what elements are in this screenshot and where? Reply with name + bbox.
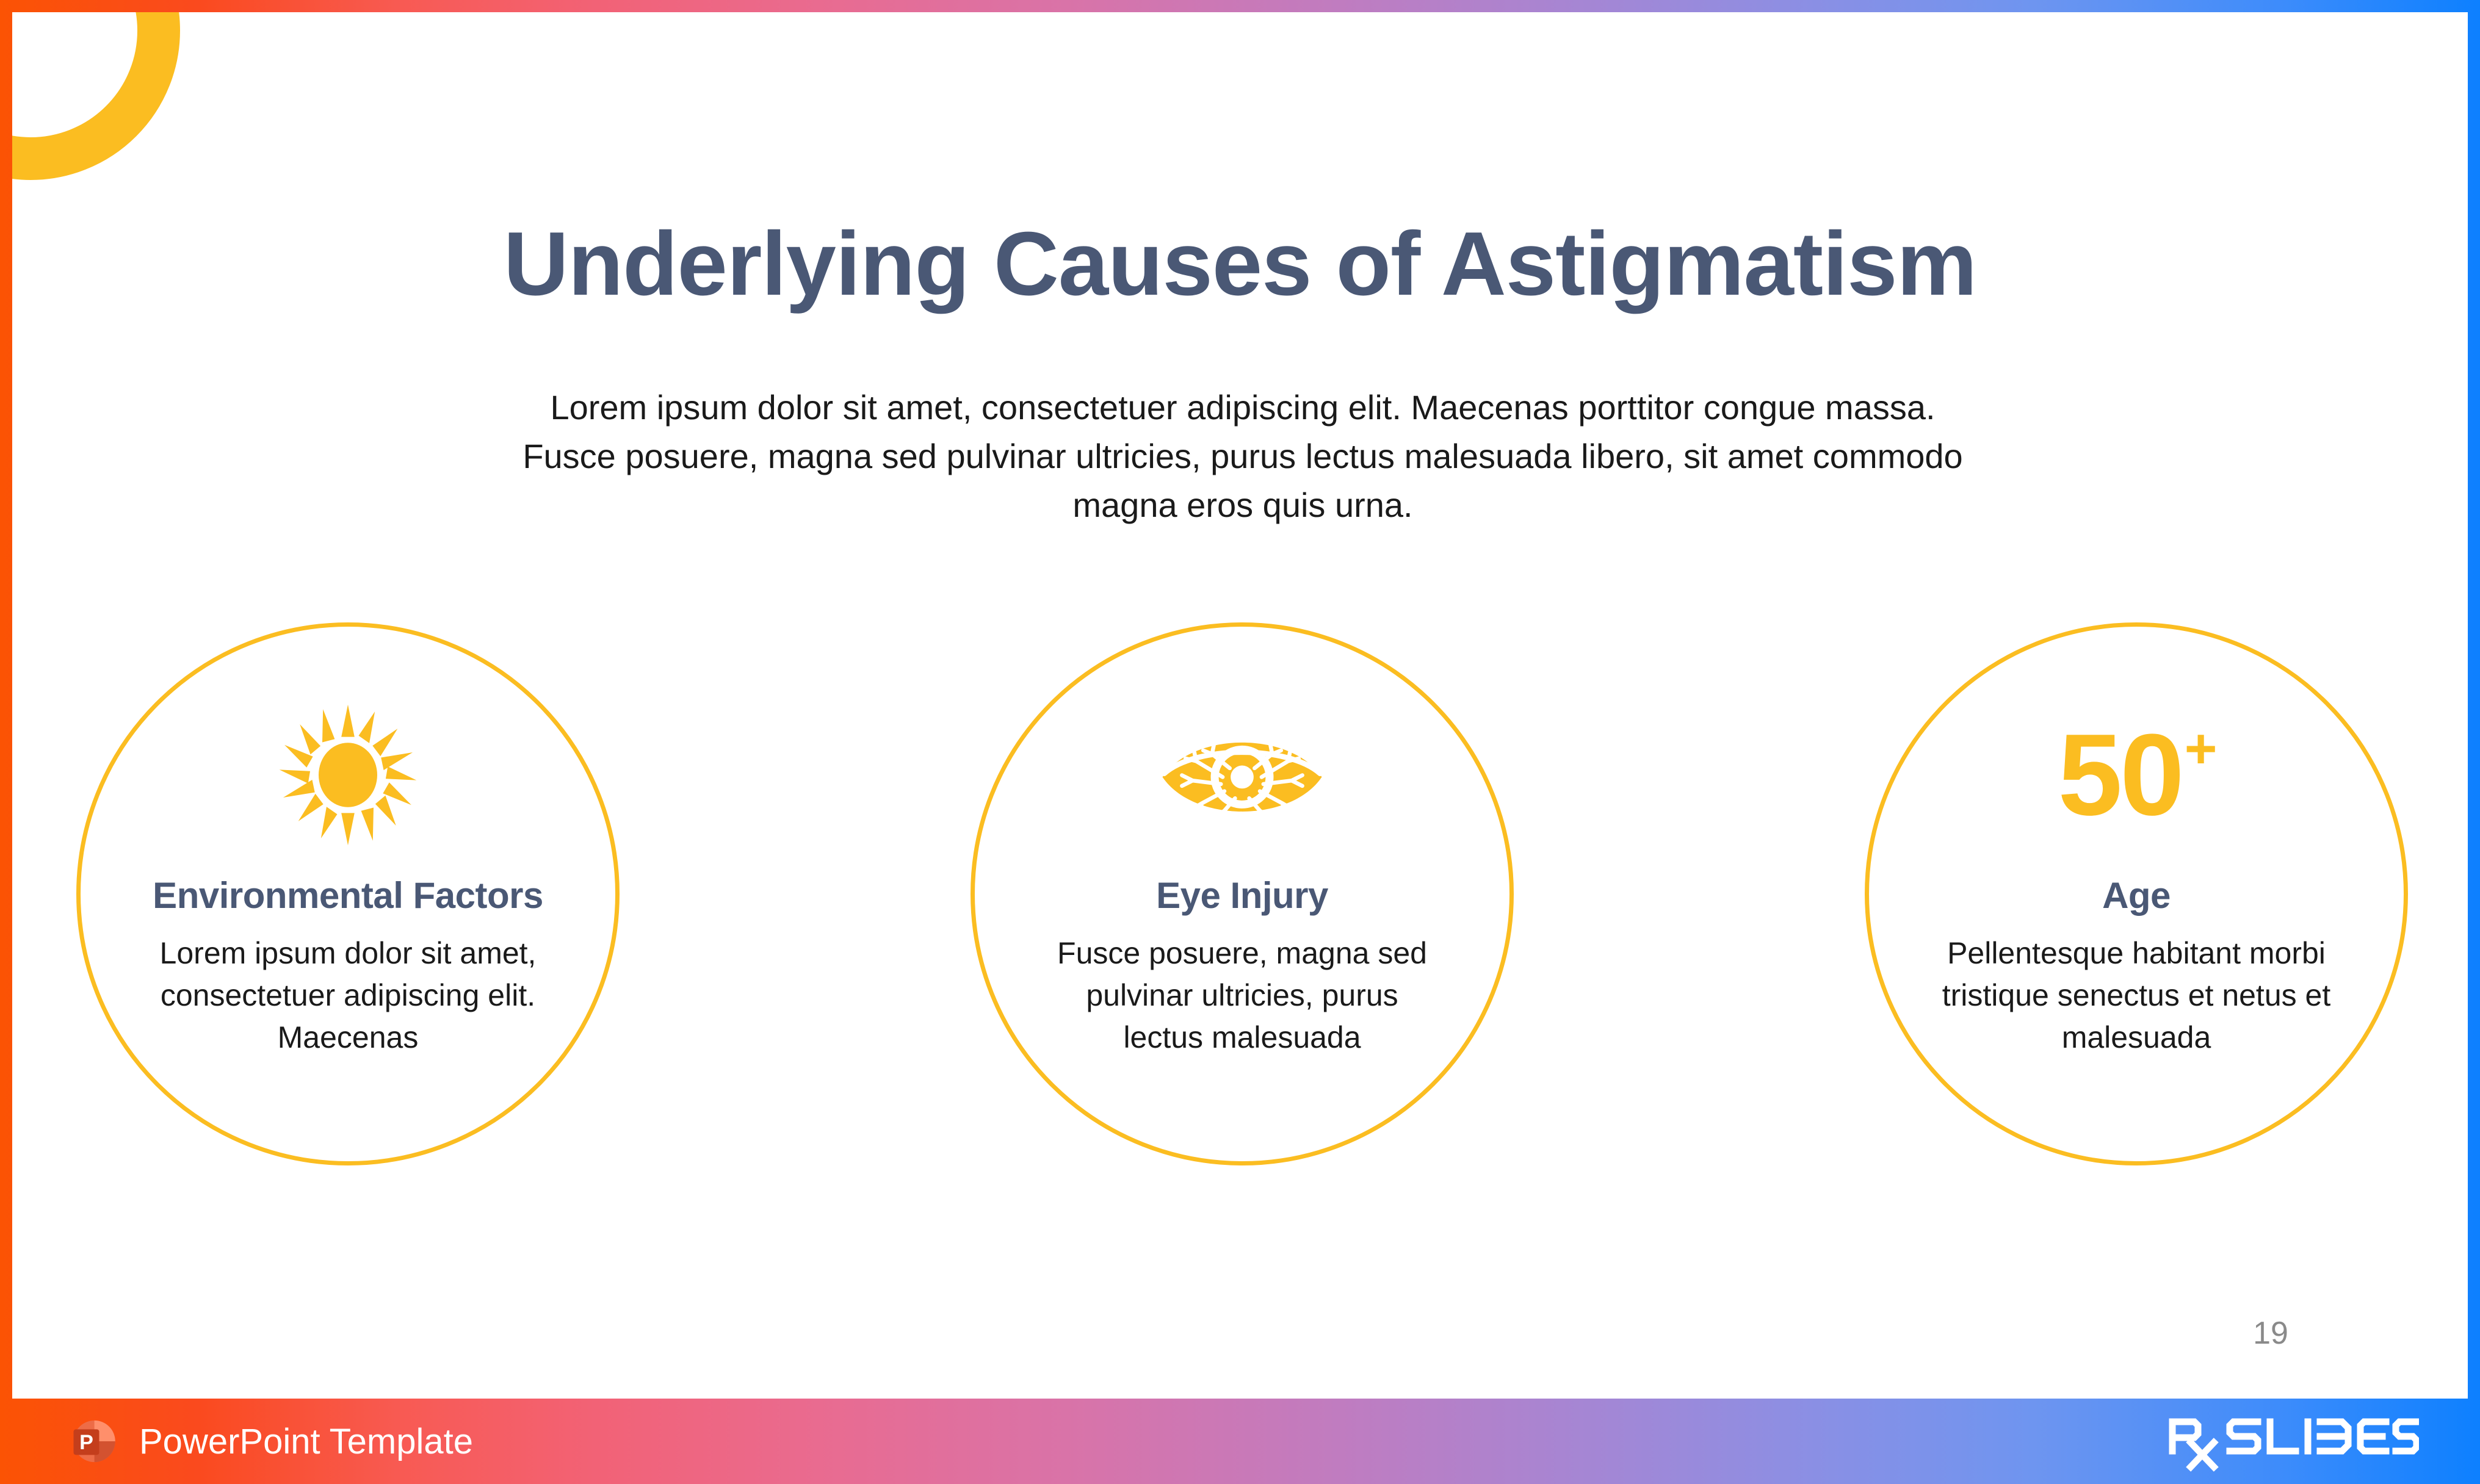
bloodshot-eye-icon: [1154, 693, 1331, 857]
card-title: Eye Injury: [1156, 874, 1328, 917]
card-eye-injury[interactable]: Eye Injury Fusce posuere, magna sed pulv…: [971, 622, 1514, 1165]
powerpoint-icon: P: [67, 1416, 118, 1467]
decorative-ring-shape: [12, 12, 180, 180]
page-title: Underlying Causes of Astigmatism: [12, 217, 2468, 311]
card-title: Environmental Factors: [153, 874, 543, 917]
age-number-suffix: +: [2185, 721, 2215, 777]
page-number: 19: [2210, 1315, 2332, 1352]
age-number-badge: 50+: [2058, 693, 2214, 857]
card-age[interactable]: 50+ Age Pellentesque habitant morbi tris…: [1865, 622, 2408, 1165]
footer-brand-group: P PowerPoint Template: [67, 1416, 473, 1467]
footer-label: PowerPoint Template: [139, 1421, 473, 1462]
card-body: Lorem ipsum dolor sit amet, consectetuer…: [153, 932, 543, 1059]
sun-icon: [275, 693, 421, 857]
age-number-value: 50: [2058, 717, 2182, 833]
slide-frame: Underlying Causes of Astigmatism Lorem i…: [0, 0, 2480, 1484]
intro-paragraph: Lorem ipsum dolor sit amet, consectetuer…: [504, 383, 1981, 530]
rxslides-logo[interactable]: [2163, 1411, 2419, 1472]
footer-bar: P PowerPoint Template: [0, 1399, 2480, 1484]
slide-canvas: Underlying Causes of Astigmatism Lorem i…: [12, 12, 2468, 1399]
card-title: Age: [2102, 874, 2171, 917]
svg-text:P: P: [79, 1431, 93, 1454]
cards-row: Environmental Factors Lorem ipsum dolor …: [76, 622, 2408, 1111]
card-environmental-factors[interactable]: Environmental Factors Lorem ipsum dolor …: [76, 622, 620, 1165]
card-body: Fusce posuere, magna sed pulvinar ultric…: [1047, 932, 1437, 1059]
card-body: Pellentesque habitant morbi tristique se…: [1941, 932, 2332, 1059]
